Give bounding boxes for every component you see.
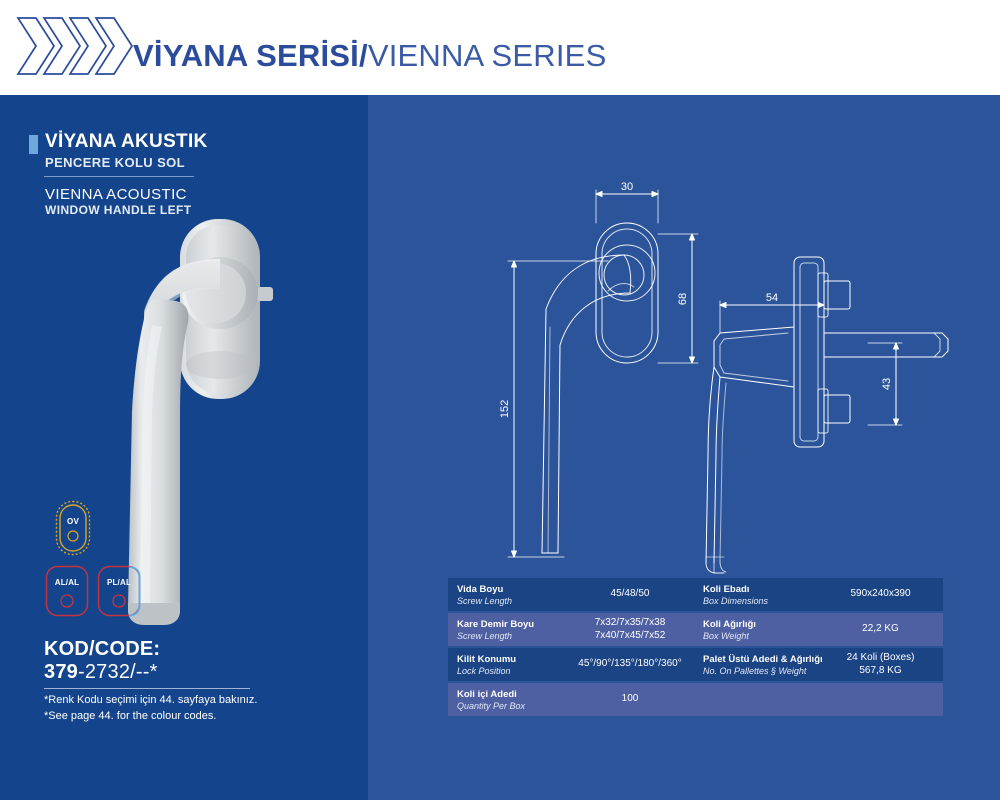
label-tr: Vida Boyu: [457, 585, 566, 596]
badge-ov-label: OV: [67, 517, 79, 526]
badge-al-al-label: AL/AL: [55, 578, 80, 587]
label-tr: Koli içi Adedi: [457, 690, 566, 701]
label-en: Box Dimensions: [703, 596, 818, 606]
cell-value: 100: [566, 683, 694, 716]
note-tr: *Renk Kodu seçimi için 44. sayfaya bakın…: [44, 694, 257, 706]
cell-value: 45/48/50: [566, 578, 694, 611]
catalog-page: VİYANA SERİSİ/VIENNA SERIES VİYANA AKUST…: [0, 0, 1000, 800]
label-tr: Palet Üstü Adedi & Ağırlığı: [703, 655, 818, 666]
label-en: Quantity Per Box: [457, 701, 566, 711]
cell-value: 24 Koli (Boxes) 567,8 KG: [818, 648, 943, 681]
cell-empty: [694, 683, 943, 716]
cell-label: Kilit Konumu Lock Position: [448, 648, 566, 681]
cell-value: 22,2 KG: [818, 613, 943, 646]
dim-side-height: 43: [881, 378, 893, 390]
badge-pl-al-label: PL/AL: [107, 578, 131, 587]
dim-front-length: 152: [499, 400, 511, 418]
page-header: VİYANA SERİSİ/VIENNA SERIES: [0, 0, 1000, 95]
badge-ov[interactable]: OV: [55, 500, 91, 556]
cell-label: Palet Üstü Adedi & Ağırlığı No. On Palle…: [694, 648, 818, 681]
cell-value: 45°/90°/135°/180°/360°: [566, 648, 694, 681]
page-title-en: VIENNA SERIES: [368, 38, 607, 73]
label-tr: Koli Ağırlığı: [703, 620, 818, 631]
viyana-w-logo-icon: [14, 12, 136, 84]
cell-label: Koli Ağırlığı Box Weight: [694, 613, 818, 646]
product-subtitle-tr: PENCERE KOLU SOL: [45, 155, 185, 170]
label-tr: Koli Ebadı: [703, 585, 818, 596]
cell-label: Kare Demir Boyu Screw Length: [448, 613, 566, 646]
cell-value: 7x32/7x35/7x38 7x40/7x45/7x52: [566, 613, 694, 646]
table-row: Kare Demir Boyu Screw Length 7x32/7x35/7…: [448, 613, 943, 646]
code-prefix: 379: [44, 661, 78, 683]
label-en: No. On Pallettes § Weight: [703, 666, 818, 676]
cell-label: Vida Boyu Screw Length: [448, 578, 566, 611]
label-en: Screw Length: [457, 631, 566, 641]
sidebar-divider: [44, 176, 194, 177]
badge-pl-al[interactable]: PL/AL: [97, 565, 141, 617]
page-title-tr: VİYANA SERİSİ/: [133, 38, 368, 73]
colour-badges: OV AL/AL PL/AL: [45, 500, 165, 620]
code-divider: [44, 688, 250, 689]
product-title-tr: VİYANA AKUSTIK: [45, 131, 208, 153]
technical-drawings: 30 68 152 54 43: [368, 95, 1000, 585]
dim-side-width: 54: [766, 292, 778, 304]
table-row: Kilit Konumu Lock Position 45°/90°/135°/…: [448, 648, 943, 681]
table-row: Vida Boyu Screw Length 45/48/50 Koli Eba…: [448, 578, 943, 611]
label-tr: Kilit Konumu: [457, 655, 566, 666]
code-value: 379-2732/--*: [44, 661, 158, 684]
note-en: *See page 44. for the colour codes.: [44, 710, 216, 722]
page-title: VİYANA SERİSİ/VIENNA SERIES: [133, 38, 606, 74]
label-en: Lock Position: [457, 666, 566, 676]
spec-table: Vida Boyu Screw Length 45/48/50 Koli Eba…: [448, 578, 943, 718]
dim-front-height: 68: [677, 293, 689, 305]
accent-bar: [29, 135, 38, 154]
table-row: Koli içi Adedi Quantity Per Box 100: [448, 683, 943, 716]
badge-al-al[interactable]: AL/AL: [45, 565, 89, 617]
label-en: Screw Length: [457, 596, 566, 606]
label-tr: Kare Demir Boyu: [457, 620, 566, 631]
product-title-en: VIENNA ACOUSTIC: [45, 186, 187, 203]
cell-label: Koli Ebadı Box Dimensions: [694, 578, 818, 611]
code-label: KOD/CODE:: [44, 638, 160, 661]
dim-front-width: 30: [621, 181, 633, 193]
cell-value: 590x240x390: [818, 578, 943, 611]
label-en: Box Weight: [703, 631, 818, 641]
code-suffix: -2732/--*: [78, 661, 158, 683]
cell-label: Koli içi Adedi Quantity Per Box: [448, 683, 566, 716]
